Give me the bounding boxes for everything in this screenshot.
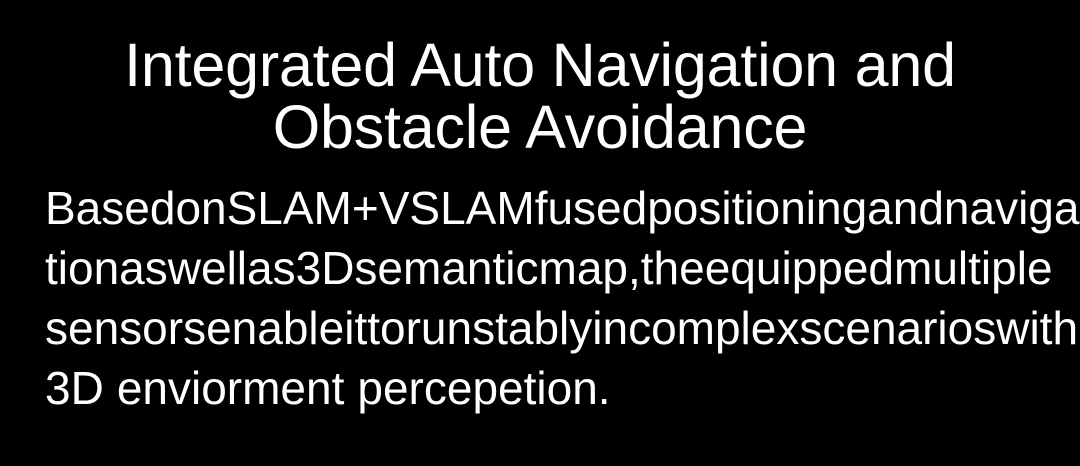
description-word: fused [535, 178, 648, 238]
description-word: semantic [354, 238, 538, 298]
title-line-1: Integrated Auto Navigation and [0, 34, 1080, 96]
description-word: equipped [705, 238, 894, 298]
description-word: with [996, 298, 1078, 358]
description-word: multiple [894, 238, 1053, 298]
page-title: Integrated Auto Navigation and Obstacle … [0, 34, 1080, 158]
description-word: on [175, 178, 226, 238]
description-word: as [247, 238, 296, 298]
description-word: enable [206, 298, 344, 358]
description-word: tion [45, 238, 119, 298]
description-paragraph: BasedonSLAM+VSLAMfusedpositioningandnavi… [45, 178, 1035, 418]
description-word: percepetion. [357, 358, 610, 418]
description-word: naviga- [944, 178, 1080, 238]
description-word: SLAM+VSLAM [227, 178, 535, 238]
description-word: complex [628, 298, 799, 358]
description-line-4: 3Denviormentpercepetion. [45, 358, 1035, 418]
description-line-3: sensorsenableittorunstablyincomplexscena… [45, 298, 1035, 358]
description-word: stably [472, 298, 592, 358]
description-word: Based [45, 178, 175, 238]
description-word: as [119, 238, 168, 298]
description-word: positioning [647, 178, 867, 238]
description-word: scenarios [799, 298, 996, 358]
description-word: 3D [45, 358, 104, 418]
description-word: well [168, 238, 247, 298]
description-word: sensors [45, 298, 206, 358]
description-word: and [867, 178, 944, 238]
description-word: in [592, 298, 628, 358]
description-word: run [406, 298, 472, 358]
description-word: 3D [296, 238, 355, 298]
slide-root: Integrated Auto Navigation and Obstacle … [0, 0, 1080, 466]
description-word: enviorment [117, 358, 345, 418]
description-word: it [344, 298, 367, 358]
description-word: to [367, 298, 405, 358]
description-word: map,the [539, 238, 705, 298]
description-line-2: tionaswellas3Dsemanticmap,theequippedmul… [45, 238, 1035, 298]
title-line-2: Obstacle Avoidance [0, 96, 1080, 158]
description-line-1: BasedonSLAM+VSLAMfusedpositioningandnavi… [45, 178, 1035, 238]
